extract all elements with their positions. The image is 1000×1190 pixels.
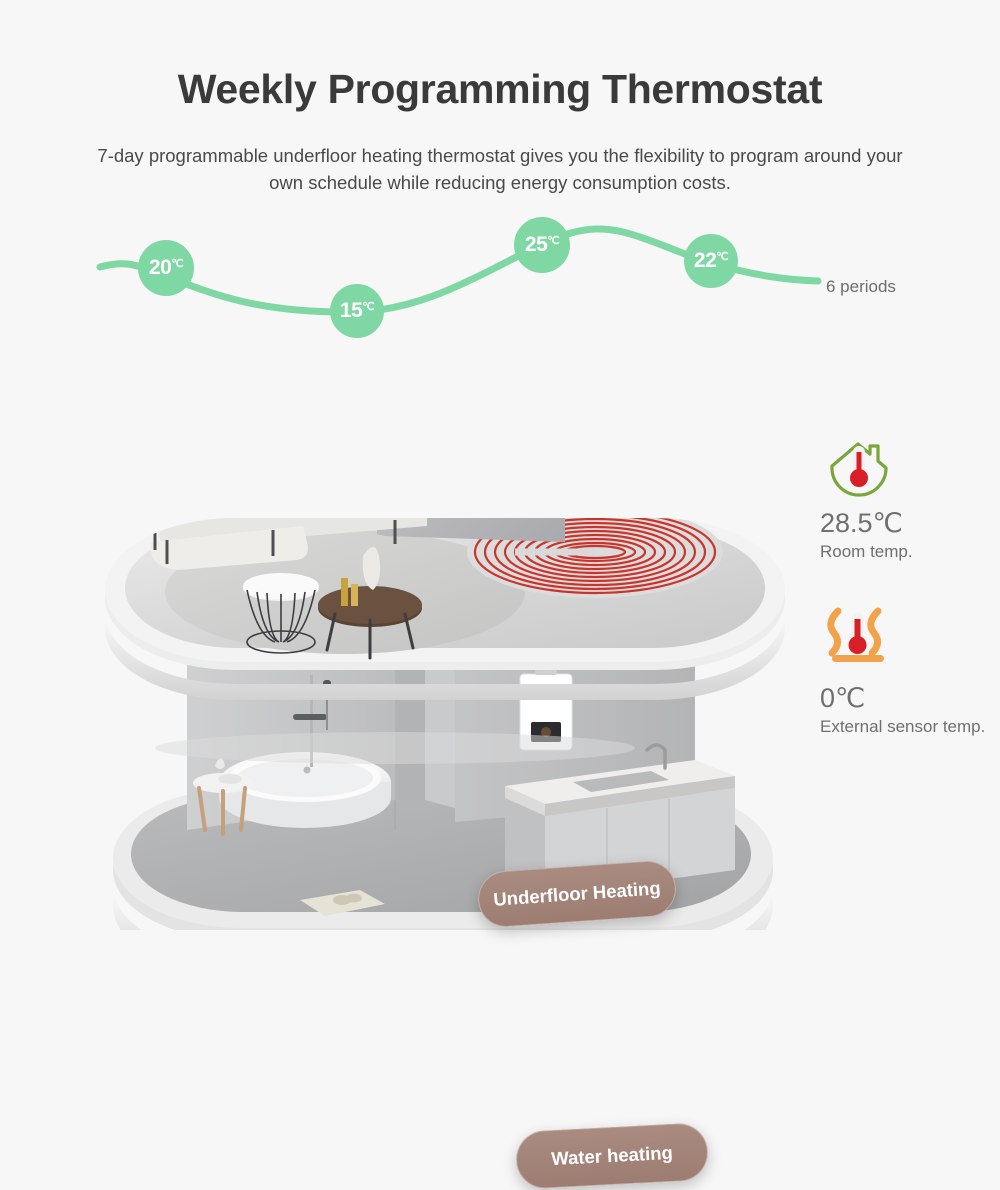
stat-room-temp: 28.5℃ Room temp. [820, 432, 990, 563]
house-thermometer-icon [820, 432, 990, 498]
heat-waves-thermometer-icon [820, 607, 990, 673]
temp-bubble-2-unit: ℃ [362, 300, 374, 313]
temp-bubble-1[interactable]: 20℃ [138, 240, 194, 296]
house-illustration: Underfloor Heating Water heating [95, 330, 795, 930]
temp-bubble-2-value: 15 [340, 299, 362, 323]
temp-bubble-4-unit: ℃ [716, 250, 728, 263]
page-title: Weekly Programming Thermostat [0, 66, 1000, 113]
page-subtitle: 7-day programmable underfloor heating th… [95, 142, 905, 196]
temp-bubble-1-value: 20 [149, 256, 171, 280]
infographic-canvas: Weekly Programming Thermostat 7-day prog… [0, 0, 1000, 1000]
stat-room-temp-label: Room temp. [820, 540, 990, 563]
stat-external-sensor-temp: 0℃ External sensor temp. [820, 607, 990, 738]
temp-bubble-4[interactable]: 22℃ [684, 234, 738, 288]
temp-bubble-3-unit: ℃ [547, 234, 559, 247]
badge-water-heating-label: Water heating [551, 1142, 674, 1170]
temp-bubble-4-value: 22 [694, 249, 716, 273]
navy-pillow [187, 478, 223, 508]
badge-water-heating[interactable]: Water heating [515, 1122, 710, 1190]
temperature-schedule-chart: 20℃ 15℃ 25℃ 22℃ [0, 205, 1000, 335]
stat-external-sensor-label: External sensor temp. [820, 715, 990, 738]
stat-room-temp-value: 28.5℃ [820, 506, 990, 540]
temp-bubble-1-unit: ℃ [171, 257, 183, 270]
wall-panel [377, 348, 565, 542]
temp-bubble-3[interactable]: 25℃ [514, 217, 570, 273]
stat-external-sensor-value: 0℃ [820, 681, 990, 715]
badge-underfloor-heating-label: Underfloor Heating [493, 877, 662, 911]
periods-label: 6 periods [826, 277, 896, 297]
temp-bubble-3-value: 25 [525, 233, 547, 257]
wall-radiator [403, 444, 539, 506]
